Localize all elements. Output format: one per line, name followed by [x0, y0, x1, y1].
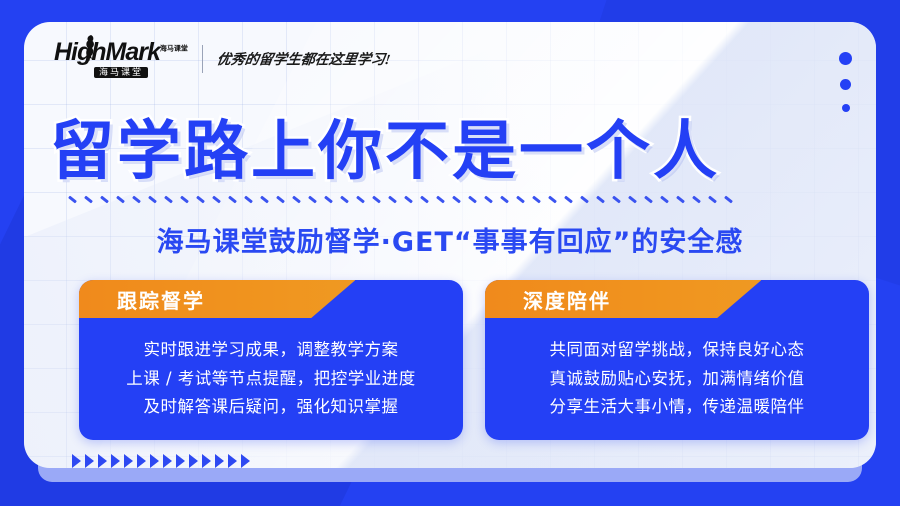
- slash-mark-icon: [196, 195, 205, 203]
- slash-mark-icon: [84, 195, 93, 203]
- arrow-right-icon: [124, 454, 133, 468]
- slash-mark-icon: [580, 195, 589, 203]
- arrow-right-icon: [241, 454, 250, 468]
- slash-mark-icon: [676, 195, 685, 203]
- slash-mark-icon: [692, 195, 701, 203]
- slash-mark-icon: [276, 195, 285, 203]
- arrow-right-icon: [215, 454, 224, 468]
- seahorse-icon: [85, 35, 96, 65]
- slash-mark-icon: [356, 195, 365, 203]
- slash-mark-icon: [100, 195, 109, 203]
- feature-card-companionship: 深度陪伴 共同面对留学挑战，保持良好心态 真诚鼓励贴心安抚，加满情绪价值 分享生…: [485, 280, 869, 440]
- slash-mark-icon: [164, 195, 173, 203]
- slash-mark-icon: [708, 195, 717, 203]
- arrow-right-icon: [176, 454, 185, 468]
- logo-wordmark-text: HighMark: [54, 38, 160, 66]
- arrow-right-icon: [85, 454, 94, 468]
- card-body-tracking: 实时跟进学习成果，调整教学方案 上课 / 考试等节点提醒，把控学业进度 及时解答…: [79, 324, 463, 434]
- slash-divider: [68, 192, 868, 206]
- card-line: 真诚鼓励贴心安抚，加满情绪价值: [550, 366, 805, 393]
- slash-mark-icon: [324, 195, 333, 203]
- slash-mark-icon: [596, 195, 605, 203]
- card-banner-companionship: 深度陪伴: [485, 280, 761, 318]
- slash-mark-icon: [260, 195, 269, 203]
- arrow-strip: [72, 454, 250, 468]
- page-subtitle: 海马课堂鼓励督学·GET“事事有回应”的安全感: [24, 220, 876, 259]
- slash-mark-icon: [244, 195, 253, 203]
- arrow-right-icon: [228, 454, 237, 468]
- logo: HighMark海马课堂 海马课堂: [54, 40, 188, 78]
- slash-mark-icon: [436, 195, 445, 203]
- slash-mark-icon: [116, 195, 125, 203]
- arrow-right-icon: [163, 454, 172, 468]
- slash-mark-icon: [180, 195, 189, 203]
- slash-mark-icon: [532, 195, 541, 203]
- card-line: 上课 / 考试等节点提醒，把控学业进度: [126, 366, 416, 393]
- arrow-right-icon: [111, 454, 120, 468]
- slash-mark-icon: [404, 195, 413, 203]
- logo-subtext: 海马课堂: [94, 67, 148, 78]
- content-panel: HighMark海马课堂 海马课堂 优秀的留学生都在这里学习! 留学路上你不是一…: [24, 22, 876, 468]
- slash-mark-icon: [292, 195, 301, 203]
- brand-tagline: 优秀的留学生都在这里学习!: [216, 49, 392, 69]
- slash-mark-icon: [212, 195, 221, 203]
- slash-mark-icon: [628, 195, 637, 203]
- card-line: 分享生活大事小情，传递温暖陪伴: [550, 394, 805, 421]
- slash-mark-icon: [68, 195, 77, 203]
- slash-mark-icon: [468, 195, 477, 203]
- card-title-companionship: 深度陪伴: [523, 285, 611, 314]
- slash-mark-icon: [612, 195, 621, 203]
- card-banner-tracking: 跟踪督学: [79, 280, 355, 318]
- dot-medium-icon: [840, 79, 851, 90]
- feature-card-tracking: 跟踪督学 实时跟进学习成果，调整教学方案 上课 / 考试等节点提醒，把控学业进度…: [79, 280, 463, 440]
- slash-mark-icon: [308, 195, 317, 203]
- slash-mark-icon: [564, 195, 573, 203]
- card-body-companionship: 共同面对留学挑战，保持良好心态 真诚鼓励贴心安抚，加满情绪价值 分享生活大事小情…: [485, 324, 869, 434]
- dot-small-icon: [842, 104, 850, 112]
- arrow-right-icon: [189, 454, 198, 468]
- slash-mark-icon: [388, 195, 397, 203]
- arrow-right-icon: [150, 454, 159, 468]
- slash-mark-icon: [644, 195, 653, 203]
- card-line: 实时跟进学习成果，调整教学方案: [144, 337, 399, 364]
- header-divider: [202, 45, 203, 73]
- card-line: 共同面对留学挑战，保持良好心态: [550, 337, 805, 364]
- brand-header: HighMark海马课堂 海马课堂 优秀的留学生都在这里学习!: [54, 40, 390, 78]
- slash-mark-icon: [372, 195, 381, 203]
- slash-mark-icon: [452, 195, 461, 203]
- dot-large-icon: [839, 52, 852, 65]
- slash-mark-icon: [500, 195, 509, 203]
- slash-mark-icon: [724, 195, 733, 203]
- dot-decor: [839, 52, 852, 112]
- arrow-right-icon: [98, 454, 107, 468]
- card-line: 及时解答课后疑问，强化知识掌握: [144, 394, 399, 421]
- slash-mark-icon: [548, 195, 557, 203]
- arrow-right-icon: [137, 454, 146, 468]
- slash-mark-icon: [148, 195, 157, 203]
- card-title-tracking: 跟踪督学: [117, 285, 205, 314]
- arrow-right-icon: [202, 454, 211, 468]
- slash-mark-icon: [228, 195, 237, 203]
- slash-mark-icon: [660, 195, 669, 203]
- slash-mark-icon: [132, 195, 141, 203]
- logo-tm: 海马课堂: [160, 46, 188, 53]
- arrow-right-icon: [72, 454, 81, 468]
- page-title: 留学路上你不是一个人: [50, 100, 720, 192]
- slash-mark-icon: [420, 195, 429, 203]
- slash-mark-icon: [516, 195, 525, 203]
- poster-root: HighMark海马课堂 海马课堂 优秀的留学生都在这里学习! 留学路上你不是一…: [0, 0, 900, 506]
- slash-mark-icon: [340, 195, 349, 203]
- slash-mark-icon: [484, 195, 493, 203]
- feature-cards: 跟踪督学 实时跟进学习成果，调整教学方案 上课 / 考试等节点提醒，把控学业进度…: [79, 280, 869, 440]
- logo-wordmark: HighMark海马课堂: [54, 40, 188, 65]
